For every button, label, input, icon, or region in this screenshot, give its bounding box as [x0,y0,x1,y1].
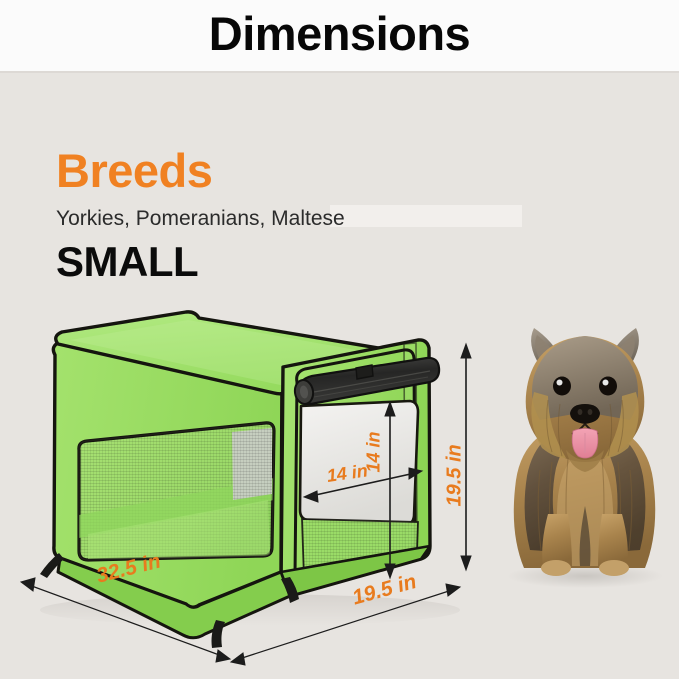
breeds-heading: Breeds [56,144,212,198]
dog-eye-left [553,377,571,396]
size-label: SMALL [56,238,198,286]
dimension-label-height: 19.5 in [444,444,467,506]
header-divider [0,71,679,73]
dimension-label-door-height: 14 in [364,431,385,472]
crate-side-window [70,415,285,570]
breeds-list: Yorkies, Pomeranians, Maltese [56,206,345,232]
page-title: Dimensions [0,6,679,62]
dimensions-infographic: Dimensions Breeds Yorkies, Pomeranians, … [0,0,679,679]
dog-photo [507,328,663,588]
dog-eye-right [599,377,617,396]
product-illustration-stage [0,300,679,679]
breeds-highlight-band [330,205,522,227]
